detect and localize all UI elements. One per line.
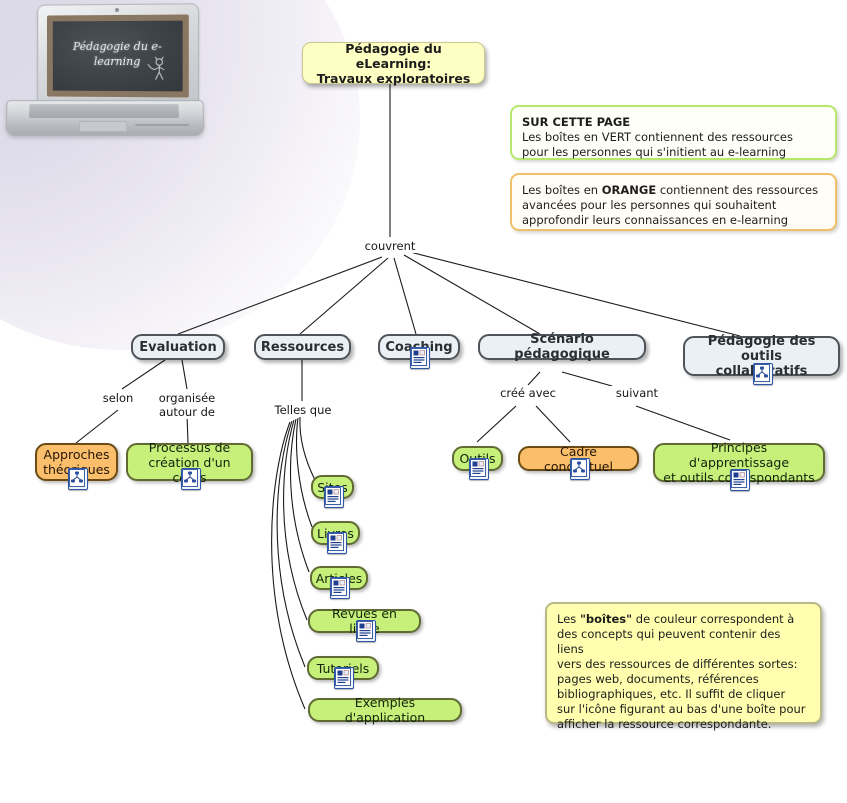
node-principes-apprentissage[interactable]: Principes d'apprentissage et outils corr… (653, 443, 825, 482)
concept-map-icon[interactable] (753, 363, 773, 385)
laptop-illustration: Pédagogie du e-learning (6, 4, 202, 134)
node-sites[interactable]: Sites (311, 475, 354, 499)
edge-label-cree-avec: créé avec (493, 386, 563, 400)
laptop-screen: Pédagogie du e-learning (47, 14, 189, 97)
node-approches-line-1: Approches (44, 447, 110, 462)
edge-label-organisee-autour-de: organisée autour de (144, 391, 230, 419)
node-cadre-conceptuel[interactable]: Cadre conceptuel (518, 446, 639, 471)
edge-label-telles-que: Telles que (268, 403, 338, 417)
edge-label-suivant: suivant (609, 386, 665, 400)
document-icon[interactable] (327, 532, 347, 554)
document-icon[interactable] (330, 577, 350, 599)
laptop-keyboard (29, 104, 179, 118)
chalkboard: Pédagogie du e-learning (53, 21, 183, 92)
node-articles[interactable]: Articles (310, 566, 368, 590)
document-icon[interactable] (410, 347, 430, 369)
webcam-dot (115, 8, 119, 12)
document-icon[interactable] (334, 667, 354, 689)
stick-figure-icon (147, 55, 169, 81)
edge-label-organisee-line-1: organisée (159, 391, 216, 405)
legend-yellow-line-5: bibliographiques, etc. Il suffit de cliq… (557, 687, 785, 701)
node-ressources-label: Ressources (255, 340, 350, 355)
legend-yellow-strong: "boîtes" (580, 612, 632, 626)
node-tutoriels[interactable]: Tutoriels (307, 656, 379, 680)
legend-orange-post: contiennent des ressources (656, 183, 818, 197)
document-icon[interactable] (730, 469, 750, 491)
legend-yellow-pre: Les (557, 612, 580, 626)
document-icon[interactable] (469, 458, 489, 480)
concept-map-canvas: Pédagogie du e-learning (0, 0, 847, 803)
laptop-trackpad (79, 121, 127, 132)
root-node-label: Pédagogie du eLearning: Travaux explorat… (303, 41, 484, 86)
node-exemples-application[interactable]: Exemples d'application (308, 698, 462, 722)
document-icon[interactable] (324, 486, 344, 508)
legend-green-note: SUR CETTE PAGE Les boîtes en VERT contie… (510, 105, 837, 160)
node-scenario-pedagogique[interactable]: Scénario pédagogique (478, 334, 646, 360)
node-coaching[interactable]: Coaching (378, 334, 460, 360)
legend-yellow-line-2: des concepts qui peuvent contenir des li… (557, 627, 780, 656)
laptop-drive-slot (135, 124, 189, 126)
node-scenario-label: Scénario pédagogique (480, 332, 644, 362)
legend-orange-note: Les boîtes en ORANGE contiennent des res… (510, 173, 837, 231)
concept-map-icon[interactable] (68, 468, 88, 490)
node-processus-creation-cours[interactable]: Processus de création d'un cours (126, 443, 253, 481)
node-pedagogie-outils-line-1: Pédagogie des outils (708, 334, 816, 364)
legend-green-line-2: pour les personnes qui s'initient au e-l… (522, 145, 786, 159)
node-livres[interactable]: Livres (311, 521, 360, 545)
node-evaluation-label: Evaluation (133, 340, 222, 355)
legend-yellow-line-4: pages web, documents, références (557, 672, 759, 686)
edge-label-selon: selon (96, 391, 140, 405)
node-revues-en-ligne[interactable]: Revues en ligne (308, 609, 421, 633)
legend-yellow-post: de couleur correspondent à (632, 612, 794, 626)
node-outils[interactable]: Outils (452, 446, 503, 471)
root-line-2: Travaux exploratoires (317, 71, 471, 86)
legend-yellow-line-6: sur l'icône figurant au bas d'une boîte … (557, 702, 806, 716)
root-line-1: Pédagogie du eLearning: (345, 41, 441, 71)
node-principes-line-1: Principes d'apprentissage (689, 440, 789, 470)
concept-map-icon[interactable] (181, 468, 201, 490)
legend-yellow-line-7: afficher la ressource correspondante. (557, 717, 771, 731)
node-exemples-label: Exemples d'application (310, 695, 460, 725)
legend-orange-line-3: approfondir leurs connaissances en e-lea… (522, 213, 788, 227)
legend-green-heading: SUR CETTE PAGE (522, 115, 825, 130)
legend-orange-strong: ORANGE (602, 183, 656, 197)
legend-green-line-1: Les boîtes en VERT contiennent des resso… (522, 130, 793, 144)
edge-label-organisee-line-2: autour de (159, 405, 215, 419)
legend-orange-line-2: avancées pour les personnes qui souhaite… (522, 198, 776, 212)
document-icon[interactable] (356, 620, 376, 642)
node-processus-line-1: Processus de (149, 440, 230, 455)
legend-yellow-note: Les "boîtes" de couleur correspondent à … (545, 602, 822, 724)
legend-yellow-line-3: vers des ressources de différentes sorte… (557, 657, 797, 671)
edge-label-couvrent: couvrent (357, 239, 423, 253)
laptop-base (5, 100, 204, 136)
node-pedagogie-outils-collaboratifs[interactable]: Pédagogie des outils collaboratifs (683, 336, 840, 376)
node-approches-theoriques[interactable]: Approches théoriques (35, 443, 118, 481)
root-node[interactable]: Pédagogie du eLearning: Travaux explorat… (302, 42, 485, 84)
node-evaluation[interactable]: Evaluation (131, 334, 225, 360)
node-ressources[interactable]: Ressources (254, 334, 351, 360)
concept-map-icon[interactable] (570, 458, 590, 480)
legend-orange-pre: Les boîtes en (522, 183, 602, 197)
laptop-lid: Pédagogie du e-learning (37, 3, 199, 106)
